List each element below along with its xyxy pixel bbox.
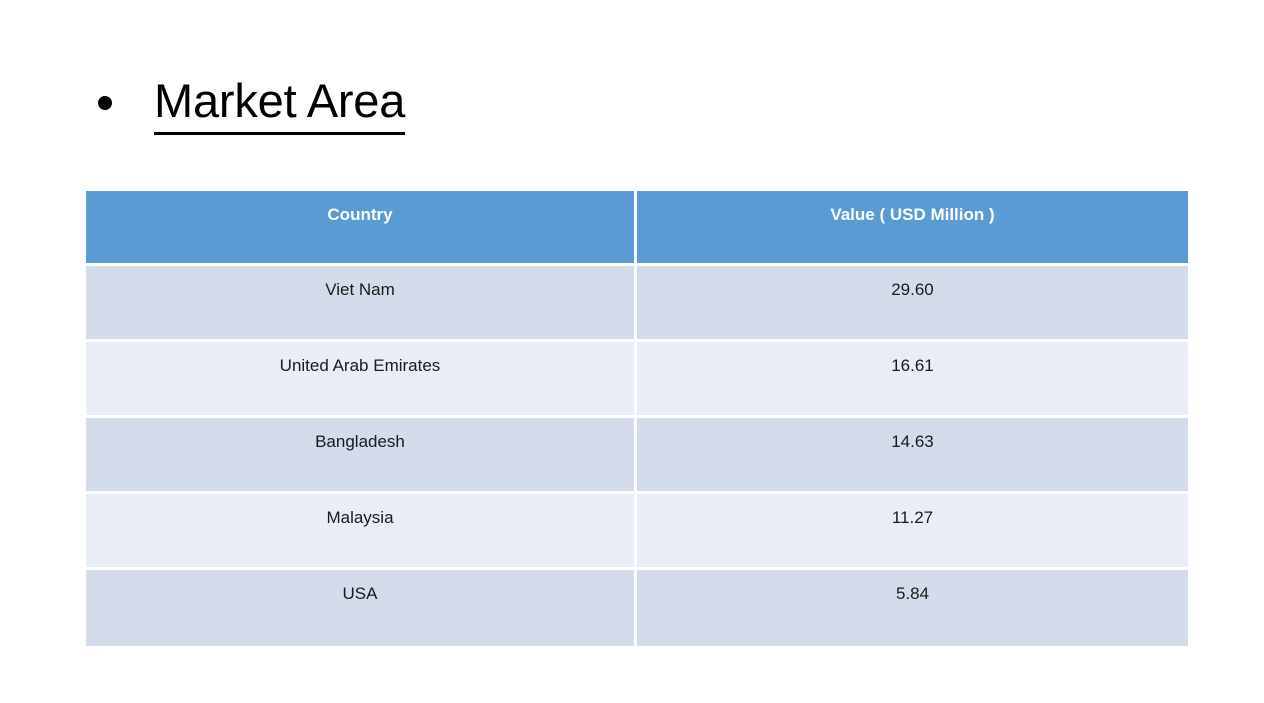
cell-value: 16.61 [637, 342, 1188, 418]
table-row: Bangladesh 14.63 [86, 418, 1188, 494]
table-row: Malaysia 11.27 [86, 494, 1188, 570]
slide-canvas: Market Area Country Value ( USD Million … [0, 0, 1264, 703]
table-header: Country Value ( USD Million ) [86, 191, 1188, 266]
cell-country: United Arab Emirates [86, 342, 637, 418]
slide-title-row: Market Area [86, 72, 1186, 142]
column-header-country: Country [86, 191, 637, 266]
cell-value: 5.84 [637, 570, 1188, 646]
market-area-table: Country Value ( USD Million ) Viet Nam 2… [86, 191, 1188, 646]
cell-country: USA [86, 570, 637, 646]
page-title: Market Area [154, 72, 405, 135]
table-header-row: Country Value ( USD Million ) [86, 191, 1188, 266]
table-row: Viet Nam 29.60 [86, 266, 1188, 342]
table-row: USA 5.84 [86, 570, 1188, 646]
cell-value: 14.63 [637, 418, 1188, 494]
bullet-icon [98, 96, 112, 110]
cell-country: Bangladesh [86, 418, 637, 494]
cell-country: Malaysia [86, 494, 637, 570]
cell-value: 11.27 [637, 494, 1188, 570]
table-body: Viet Nam 29.60 United Arab Emirates 16.6… [86, 266, 1188, 646]
table-row: United Arab Emirates 16.61 [86, 342, 1188, 418]
column-header-value: Value ( USD Million ) [637, 191, 1188, 266]
cell-country: Viet Nam [86, 266, 637, 342]
cell-value: 29.60 [637, 266, 1188, 342]
